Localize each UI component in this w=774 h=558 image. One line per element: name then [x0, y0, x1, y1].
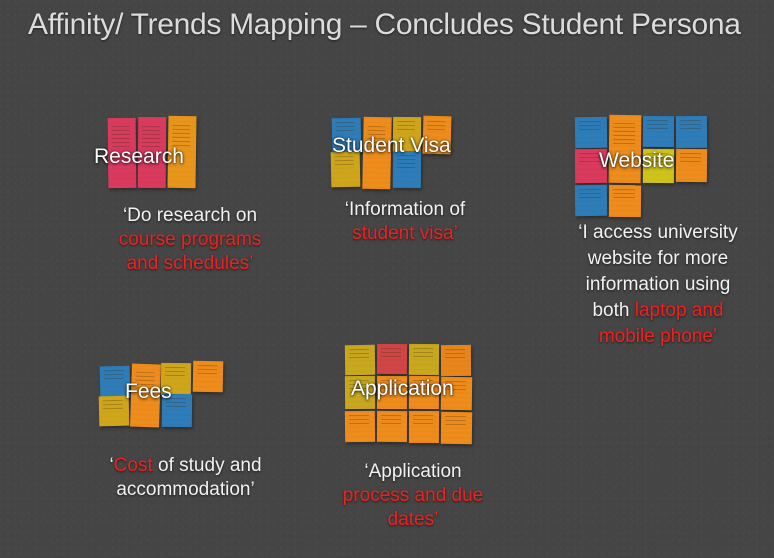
caption-fees: ‘Cost of study and accommodation’: [73, 454, 298, 502]
note-scribble-icon: [613, 189, 634, 200]
sticky-note: [609, 185, 641, 217]
caption-research: ‘Do research on course programs and sche…: [65, 204, 315, 276]
note-scribble-icon: [413, 348, 433, 359]
sticky-note: [409, 411, 439, 443]
cluster-fees: Fees ‘Cost of study and accommodation’: [98, 358, 288, 528]
note-scribble-icon: [197, 365, 217, 376]
page-title: Affinity/ Trends Mapping – Concludes Stu…: [28, 8, 741, 42]
note-scribble-icon: [614, 123, 635, 146]
note-scribble-icon: [349, 415, 369, 426]
note-scribble-icon: [680, 120, 701, 131]
sticky-note: [575, 185, 607, 216]
sticky-note: [377, 411, 407, 442]
note-scribble-icon: [445, 349, 465, 360]
caption-line-highlight: mobile phone’: [553, 324, 763, 350]
caption-line-mixed: both laptop and: [553, 298, 763, 324]
cluster-label-application: Application: [351, 377, 454, 401]
caption-student-visa: ‘Information of student visa’: [305, 198, 505, 246]
note-scribble-icon: [445, 416, 466, 427]
cluster-label-student-visa: Student Visa: [332, 134, 451, 158]
caption-line: ‘I access university: [553, 220, 763, 246]
sticky-note: [441, 412, 472, 444]
caption-line-highlight: process and due: [313, 484, 513, 508]
cluster-website: Website ‘I access university website for…: [572, 112, 772, 352]
sticky-note: [643, 116, 674, 147]
note-scribble-icon: [413, 415, 433, 426]
sticky-note: [575, 117, 607, 148]
sticky-note: [676, 116, 707, 148]
sticky-note: [441, 345, 471, 376]
caption-line: ‘Application: [313, 460, 513, 484]
cluster-application: Application ‘Application process and due…: [343, 340, 533, 540]
caption-line: accommodation’: [73, 478, 298, 502]
note-scribble-icon: [349, 348, 369, 358]
note-scribble-icon: [381, 348, 401, 358]
note-scribble-icon: [579, 189, 600, 200]
caption-text-highlight: Cost: [114, 455, 153, 476]
cluster-research: Research ‘Do research on course programs…: [100, 112, 280, 282]
sticky-note: [345, 411, 375, 442]
note-scribble-icon: [647, 120, 668, 131]
caption-application: ‘Application process and due dates’: [313, 460, 513, 532]
cluster-label-website: Website: [599, 149, 674, 173]
note-scribble-icon: [336, 122, 355, 134]
caption-text: of study and: [153, 455, 262, 476]
sticky-note: [676, 149, 707, 182]
cluster-student-visa: Student Visa ‘Information of student vis…: [330, 112, 520, 262]
note-scribble-icon: [579, 121, 600, 132]
note-scribble-icon: [427, 120, 446, 133]
note-scribble-icon: [165, 367, 185, 378]
sticky-note: [409, 344, 439, 375]
caption-line-highlight: dates’: [313, 508, 513, 532]
caption-line-highlight: student visa’: [305, 222, 505, 246]
sticky-note: [377, 344, 407, 374]
sticky-note: [193, 361, 224, 393]
cluster-label-research: Research: [94, 145, 184, 169]
caption-line: website for more: [553, 246, 763, 272]
caption-line-highlight: and schedules’: [65, 252, 315, 276]
note-scribble-icon: [397, 121, 416, 133]
caption-text: both: [592, 300, 629, 321]
note-scribble-icon: [680, 153, 701, 164]
caption-line: information using: [553, 272, 763, 298]
caption-line-highlight: course programs: [65, 228, 315, 252]
note-scribble-icon: [381, 415, 401, 426]
sticky-note: [345, 345, 375, 375]
cluster-label-fees: Fees: [125, 380, 172, 404]
caption-line-mixed: ‘Cost of study and: [73, 454, 298, 478]
caption-line: ‘Information of: [305, 198, 505, 222]
caption-text-highlight: laptop and: [635, 300, 724, 321]
note-scribble-icon: [104, 370, 124, 381]
caption-website: ‘I access university website for more in…: [553, 220, 763, 350]
note-scribble-icon: [579, 153, 600, 165]
note-scribble-icon: [103, 399, 123, 410]
caption-line: ‘Do research on: [65, 204, 315, 228]
